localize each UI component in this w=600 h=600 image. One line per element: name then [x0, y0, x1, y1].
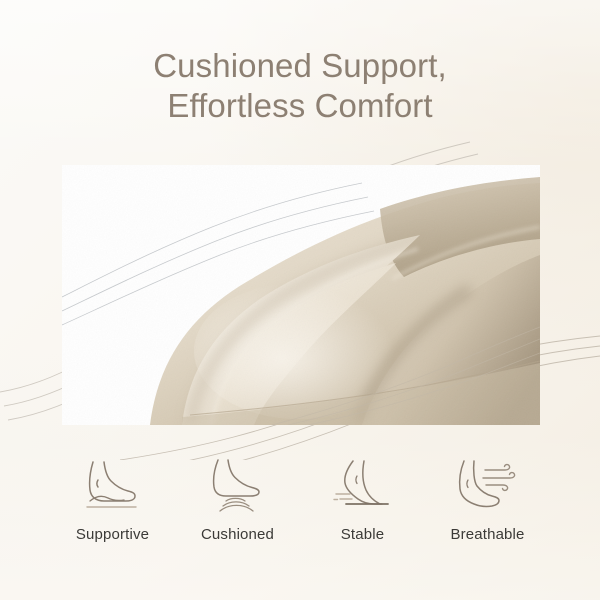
foot-cushion-waves-icon [207, 452, 269, 514]
feature-list: Supportive Cushioned [0, 452, 600, 543]
feature-label: Stable [341, 526, 384, 543]
foot-stability-ground-icon [332, 452, 394, 514]
foot-arch-support-icon [82, 452, 144, 514]
feature-item-supportive[interactable]: Supportive [50, 452, 175, 543]
feature-label: Supportive [76, 526, 149, 543]
feature-item-stable[interactable]: Stable [300, 452, 425, 543]
product-photo-insole [62, 165, 540, 425]
feature-item-breathable[interactable]: Breathable [425, 452, 550, 543]
feature-label: Breathable [450, 526, 524, 543]
product-image-panel [62, 165, 540, 425]
headline-line-2: Effortless Comfort [0, 86, 600, 126]
foot-airflow-breeze-icon [455, 452, 521, 514]
feature-item-cushioned[interactable]: Cushioned [175, 452, 300, 543]
page-title: Cushioned Support, Effortless Comfort [0, 46, 600, 126]
headline-line-1: Cushioned Support, [153, 47, 447, 84]
feature-label: Cushioned [201, 526, 274, 543]
product-image-stage [40, 150, 560, 440]
